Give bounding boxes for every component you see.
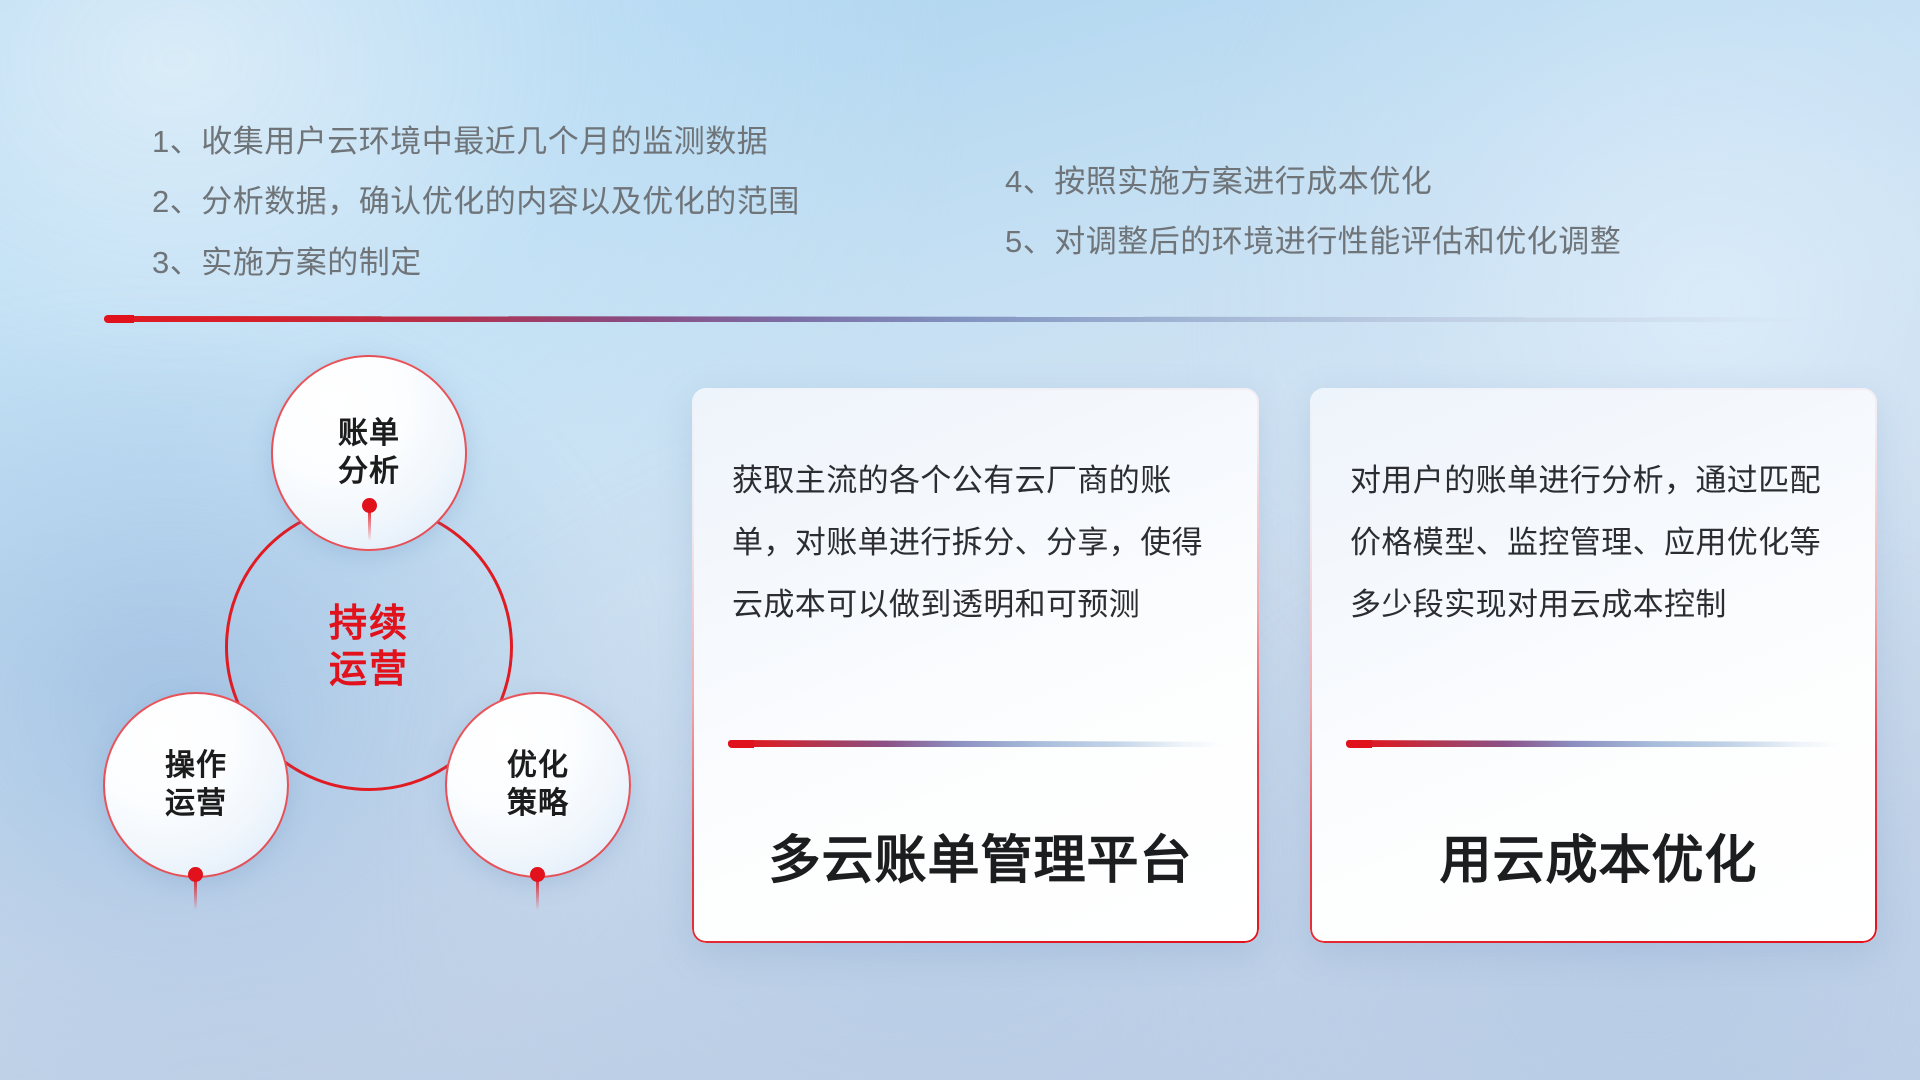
steps-list-right: 4、按照实施方案进行成本优化 5、对调整后的环境进行性能评估和优化调整: [1005, 152, 1621, 273]
bubble-optimization-strategy[interactable]: 优化 策略: [445, 692, 631, 878]
card-2-title: 用云成本优化: [1350, 818, 1847, 893]
step-item-3: 3、实施方案的制定: [152, 233, 800, 293]
card-1-divider-red-cap: [728, 740, 754, 748]
card-2-divider: [1346, 740, 1841, 747]
continuous-operation-diagram: 持续 运营 账单 分析 操作 运营 优化 策略: [95, 355, 665, 955]
card-multi-cloud-billing-platform[interactable]: 获取主流的各个公有云厂商的账单，对账单进行拆分、分享，使得云成本可以做到透明和可…: [692, 388, 1259, 943]
step-item-4: 4、按照实施方案进行成本优化: [1005, 152, 1621, 212]
bubble-optimization-strategy-line-2: 策略: [507, 785, 569, 823]
node-tail-top-icon: [368, 511, 371, 541]
bubble-operation-management-line-1: 操作: [165, 747, 227, 785]
card-cloud-cost-optimization[interactable]: 对用户的账单进行分析，通过匹配价格模型、监控管理、应用优化等多少段实现对用云成本…: [1310, 388, 1877, 943]
bubble-billing-analysis-line-1: 账单: [338, 415, 400, 453]
center-label-line-2: 运营: [329, 647, 409, 693]
bubble-billing-analysis-line-2: 分析: [338, 453, 400, 491]
divider-gradient-bar: [104, 316, 1829, 322]
section-divider: [104, 312, 1829, 326]
slide-canvas: 1、收集用户云环境中最近几个月的监测数据 2、分析数据，确认优化的内容以及优化的…: [0, 0, 1920, 1080]
node-dot-right-icon: [530, 867, 545, 882]
step-item-5: 5、对调整后的环境进行性能评估和优化调整: [1005, 212, 1621, 272]
bubble-optimization-strategy-line-1: 优化: [507, 747, 569, 785]
card-2-divider-red-cap: [1346, 740, 1372, 748]
card-1-description: 获取主流的各个公有云厂商的账单，对账单进行拆分、分享，使得云成本可以做到透明和可…: [732, 450, 1225, 636]
card-1-divider: [728, 740, 1223, 747]
card-1-divider-gradient: [728, 740, 1223, 747]
bubble-operation-management[interactable]: 操作 运营: [103, 692, 289, 878]
card-1-title: 多云账单管理平台: [732, 818, 1229, 893]
node-dot-left-icon: [188, 867, 203, 882]
node-tail-right-icon: [536, 880, 539, 910]
step-item-2: 2、分析数据，确认优化的内容以及优化的范围: [152, 172, 800, 232]
card-2-description: 对用户的账单进行分析，通过匹配价格模型、监控管理、应用优化等多少段实现对用云成本…: [1350, 450, 1843, 636]
node-dot-top-icon: [362, 498, 377, 513]
card-2-divider-gradient: [1346, 740, 1841, 747]
node-tail-left-icon: [194, 880, 197, 910]
steps-list-left: 1、收集用户云环境中最近几个月的监测数据 2、分析数据，确认优化的内容以及优化的…: [152, 112, 800, 293]
center-label-line-1: 持续: [329, 601, 409, 647]
step-item-1: 1、收集用户云环境中最近几个月的监测数据: [152, 112, 800, 172]
bubble-operation-management-line-2: 运营: [165, 785, 227, 823]
divider-red-cap: [104, 315, 134, 323]
